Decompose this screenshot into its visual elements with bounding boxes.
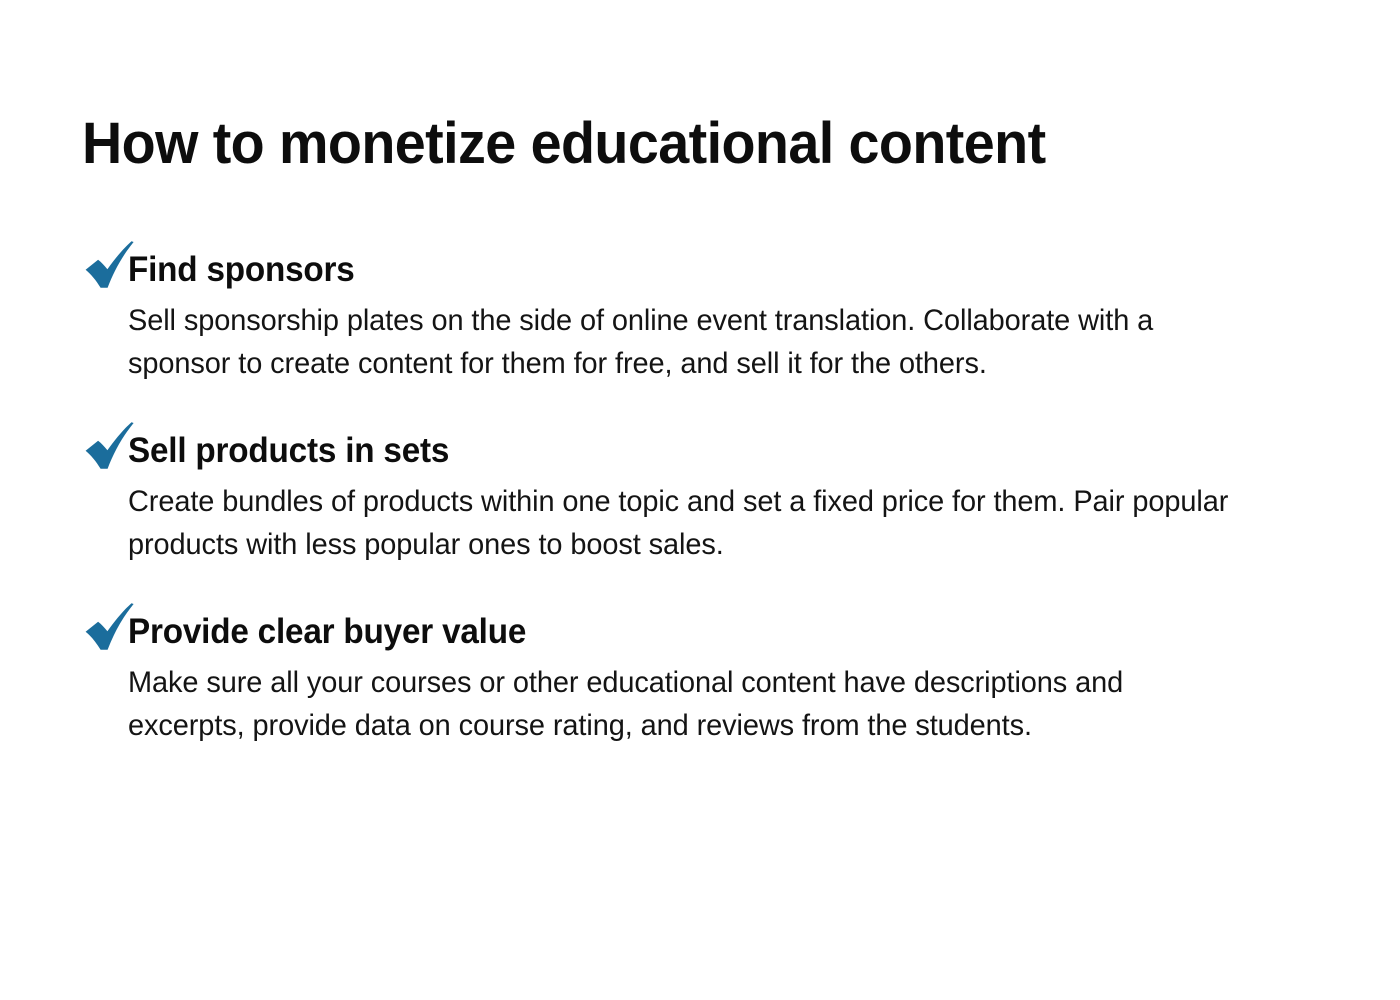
list-item-header: Sell products in sets <box>82 429 1322 477</box>
check-mark-icon <box>82 421 134 475</box>
list-item-heading: Sell products in sets <box>128 429 449 473</box>
list-item-header: Find sponsors <box>82 248 1322 296</box>
list-item: Sell products in sets Create bundles of … <box>82 429 1322 566</box>
list-item-body: Sell sponsorship plates on the side of o… <box>128 299 1247 385</box>
list-item-header: Provide clear buyer value <box>82 610 1322 658</box>
check-mark-icon <box>82 240 134 294</box>
list-item: Find sponsors Sell sponsorship plates on… <box>82 248 1322 385</box>
list-item: Provide clear buyer value Make sure all … <box>82 610 1322 747</box>
slide-canvas: How to monetize educational content Find… <box>0 0 1400 1000</box>
bullet-list: Find sponsors Sell sponsorship plates on… <box>82 248 1322 747</box>
list-item-body: Make sure all your courses or other educ… <box>128 661 1247 747</box>
list-item-heading: Provide clear buyer value <box>128 610 526 654</box>
list-item-body: Create bundles of products within one to… <box>128 480 1247 566</box>
page-title: How to monetize educational content <box>82 111 1272 177</box>
list-item-heading: Find sponsors <box>128 248 355 292</box>
check-mark-icon <box>82 602 134 656</box>
